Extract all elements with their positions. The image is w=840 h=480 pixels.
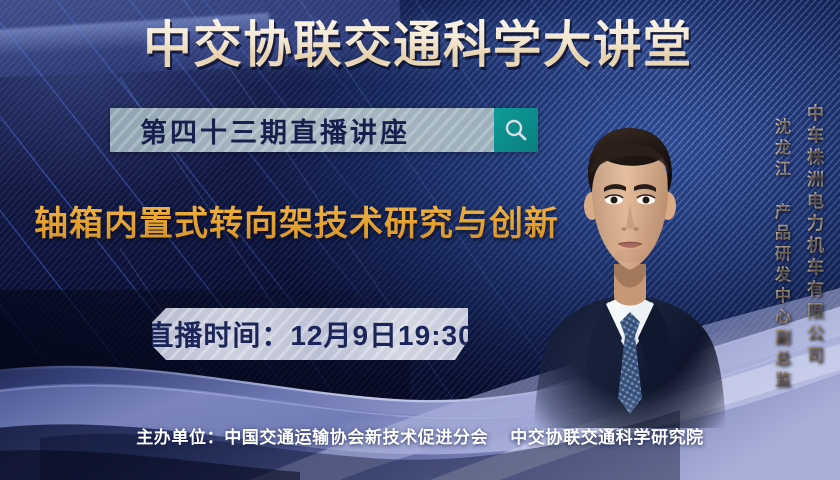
footer-organizers: 主办单位：中国交通运输协会新技术促进分会中交协联交通科学研究院 — [0, 423, 840, 448]
chin-shadow — [614, 249, 646, 263]
pupil-right — [643, 197, 650, 204]
session-banner-body: 第四十三期直播讲座 — [110, 108, 494, 152]
speaker-name-role: 沈龙江 产品研发中心副总监 — [768, 118, 792, 392]
search-icon-glyph — [503, 117, 529, 143]
pupil-left — [611, 197, 618, 204]
footer-organizer-2: 中交协联交通科学研究院 — [510, 428, 704, 447]
speaker-portrait — [530, 98, 730, 428]
speaker-portrait-svg — [530, 98, 730, 428]
session-banner: 第四十三期直播讲座 — [110, 108, 538, 152]
page-title: 中交协联交通科学大讲堂 — [127, 18, 709, 73]
poster-canvas: 中交协联交通科学大讲堂 第四十三期直播讲座 轴箱内置式转向架技术研究与创新 直播… — [0, 0, 840, 480]
topic-title: 轴箱内置式转向架技术研究与创新 — [34, 196, 559, 245]
footer-organizer-label: 主办单位： — [136, 428, 224, 447]
live-time-text: 直播时间：12月9日19:30 — [145, 314, 474, 354]
speaker-company: 中车株洲电力机车有限公司 — [801, 104, 826, 368]
search-icon[interactable] — [494, 108, 538, 152]
nostril-right — [633, 227, 638, 231]
nostril-left — [621, 227, 626, 231]
session-banner-label: 第四十三期直播讲座 — [136, 111, 468, 150]
footer-organizer-1: 中国交通运输协会新技术促进分会 — [224, 428, 488, 447]
live-time-badge: 直播时间：12月9日19:30 — [152, 308, 468, 360]
